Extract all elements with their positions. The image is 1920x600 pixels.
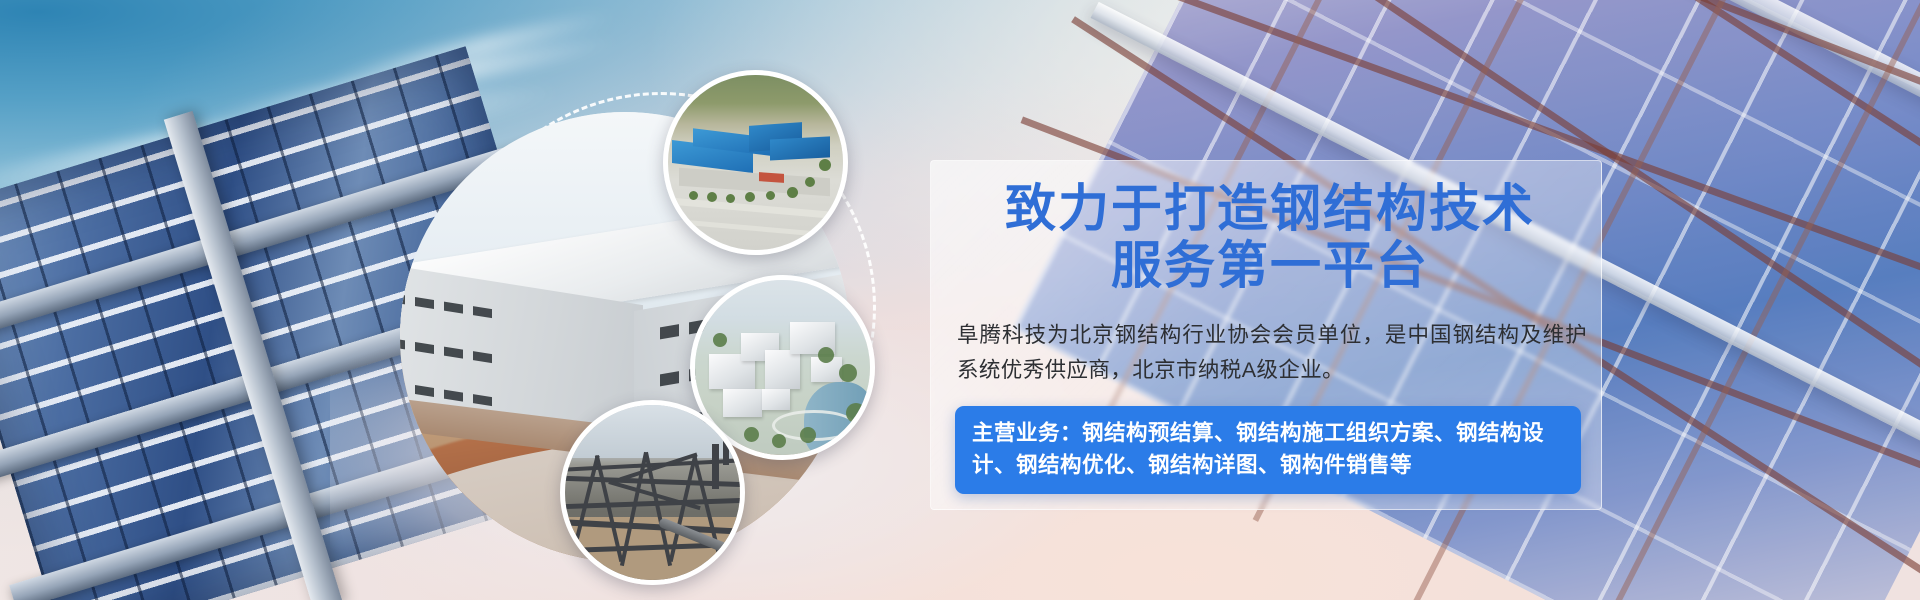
headline-line-1: 致力于打造钢结构技术	[945, 182, 1595, 239]
services-badge: 主营业务：钢结构预结算、钢结构施工组织方案、钢结构设计、钢结构优化、钢结构详图、…	[955, 406, 1581, 495]
lede-paragraph: 阜腾科技为北京钢结构行业协会会员单位，是中国钢结构及维护系统优秀供应商，北京市纳…	[945, 318, 1595, 388]
banner-content: 致力于打造钢结构技术 服务第一平台 阜腾科技为北京钢结构行业协会会员单位，是中国…	[945, 160, 1595, 494]
hero-banner: 致力于打造钢结构技术 服务第一平台 阜腾科技为北京钢结构行业协会会员单位，是中国…	[0, 0, 1920, 600]
thumb-photo-aerial-factory	[663, 70, 848, 255]
thumb-photo-steel-truss	[560, 400, 745, 585]
headline: 致力于打造钢结构技术 服务第一平台	[945, 160, 1595, 296]
headline-line-2: 服务第一平台	[945, 239, 1595, 296]
photo-cluster	[420, 60, 920, 560]
